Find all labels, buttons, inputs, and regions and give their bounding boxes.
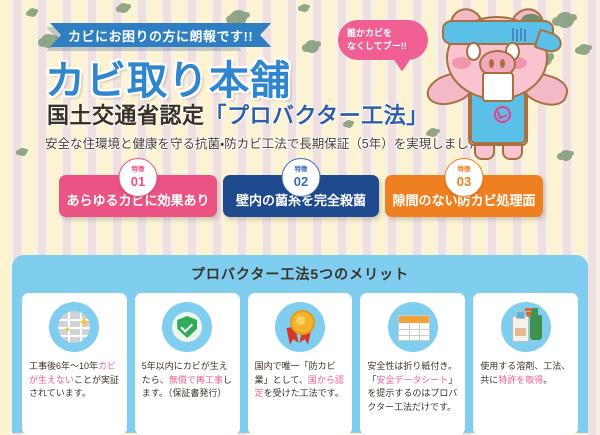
mold-spot-icon: [305, 40, 319, 53]
hero-lead-text: 安全な住環境と健康を守る抗菌・防カビ工法で長期保証（5年）を実現しました！: [45, 133, 494, 152]
sheet-header-row: [399, 316, 429, 323]
feature-badge-01: 特徴 01: [119, 158, 158, 197]
mold-spot-icon: [300, 4, 309, 12]
merit-text-post: を受けた工法です。: [264, 388, 344, 398]
sheet-table: [398, 315, 430, 341]
mold-spot-icon: [28, 8, 37, 17]
feature-box-03[interactable]: 特徴 03 隙間のない防カビ処理面: [385, 175, 543, 217]
merit-text-highlight: 無償で再工事: [169, 375, 223, 385]
merit-icon-wrap: [367, 302, 458, 352]
merit-card[interactable]: 国内で唯一「防カビ業」として、国から認定を受けた工法です。: [248, 293, 353, 435]
pig-mascot: [432, 2, 584, 154]
merit-card[interactable]: 安全性は折り紙付き。「安全データシート」を提示するのはプロバクター工法だけです。: [360, 293, 465, 435]
hero-ribbon-text: カビにお困りの方に朗報です!!: [68, 26, 253, 45]
speech-bubble-tail: [393, 56, 415, 73]
apron-logo-icon: [494, 106, 511, 123]
feature-badge-number: 01: [131, 175, 145, 188]
mold-spot-icon: [18, 148, 27, 156]
merit-text: 国内で唯一「防カビ業」として、国から認定を受けた工法です。: [255, 360, 346, 401]
spray-nozzle: [525, 308, 532, 311]
bottle-cap: [516, 311, 525, 319]
merit-icon-wrap: [480, 302, 571, 352]
detergent-bottle-icon: [512, 316, 529, 342]
merits-panel: プロバクター工法5つのメリット ✦ ✦ 工事後6年〜10年カビが生えないことが実…: [12, 255, 588, 433]
mold-spot-icon: [230, 10, 247, 25]
feature-badge-number: 02: [294, 175, 308, 188]
speech-line-2: なくしてブー!!: [347, 40, 428, 53]
mascot-speech-bubble: 誰かカビを なくしてブー!!: [338, 20, 428, 60]
merit-text-post: 。: [543, 375, 552, 385]
merits-card-list: ✦ ✦ 工事後6年〜10年カビが生えないことが実証されています。 5年以内にカビ…: [22, 293, 578, 435]
merit-text-highlight: 安全データシート: [376, 375, 448, 385]
pig-face-mask-icon: [482, 72, 514, 102]
feature-badge-label: 特徴: [295, 167, 308, 174]
merit-text-pre: 工事後6年〜10年: [29, 361, 98, 371]
merit-icon-wrap: [142, 302, 233, 352]
feature-badge-number: 03: [457, 175, 471, 188]
merit-icon-wrap: ✦ ✦: [29, 302, 120, 352]
merit-text: 使用する溶剤、工法、共に特許を取得。: [480, 360, 571, 387]
merit-card[interactable]: ✦ ✦ 工事後6年〜10年カビが生えないことが実証されています。: [22, 293, 127, 435]
data-sheet-icon: [388, 302, 438, 352]
pig-eye-left-icon: [466, 42, 481, 61]
merit-text: 5年以内にカビが生えたら、無償で再工事します。（保証書発行）: [142, 360, 233, 401]
gold-medal-icon: [275, 302, 325, 352]
feature-badge-03: 特徴 03: [445, 158, 484, 197]
speech-bubble-text: 誰かカビを なくしてブー!!: [338, 20, 428, 60]
spray-neck: [531, 308, 538, 315]
merit-text: 工事後6年〜10年カビが生えないことが実証されています。: [29, 360, 120, 401]
bottle-label: [515, 328, 526, 336]
feature-badge-label: 特徴: [458, 167, 471, 174]
sparkle-icon: ✦: [77, 316, 90, 332]
merit-card[interactable]: 使用する溶剤、工法、共に特許を取得。: [473, 293, 578, 435]
merit-text-highlight: 特許を取得: [498, 375, 543, 385]
green-shield-check-icon: [162, 302, 212, 352]
merits-title: プロバクター工法5つのメリット: [22, 264, 578, 284]
hero-subtitle: 国土交通省認定「プロバクター工法」: [47, 98, 429, 130]
page-root: カビにお困りの方に朗報です!! カビ取り本舗 国土交通省認定「プロバクター工法」…: [0, 0, 600, 435]
hero-subtitle-method: 「プロバクター工法」: [205, 103, 429, 128]
pig-fringe-icon: [512, 28, 528, 42]
feature-badge-02: 特徴 02: [282, 158, 321, 197]
speech-line-1: 誰かカビを: [347, 27, 428, 40]
hero-ribbon-banner: カビにお困りの方に朗報です!!: [50, 23, 271, 47]
mold-spot-icon: [118, 3, 129, 13]
hero-subtitle-certification: 国土交通省認定: [47, 103, 205, 128]
merit-icon-wrap: [255, 302, 346, 352]
feature-box-01[interactable]: 特徴 01 あらゆるカビに効果あり: [59, 175, 217, 217]
solvent-bottles-icon: [501, 302, 551, 352]
merit-text: 安全性は折り紙付き。「安全データシート」を提示するのはプロバクター工法だけです。: [367, 360, 458, 414]
brick-wall-sparkle-icon: ✦ ✦: [49, 302, 99, 352]
feature-badge-label: 特徴: [132, 167, 145, 174]
medal-disc: [290, 310, 315, 335]
spray-bottle-icon: [530, 315, 542, 340]
feature-box-02[interactable]: 特徴 02 壁内の菌糸を完全殺菌: [223, 175, 379, 217]
sparkle-icon: ✦: [63, 326, 71, 336]
merit-card[interactable]: 5年以内にカビが生えたら、無償で再工事します。（保証書発行）: [135, 293, 240, 435]
